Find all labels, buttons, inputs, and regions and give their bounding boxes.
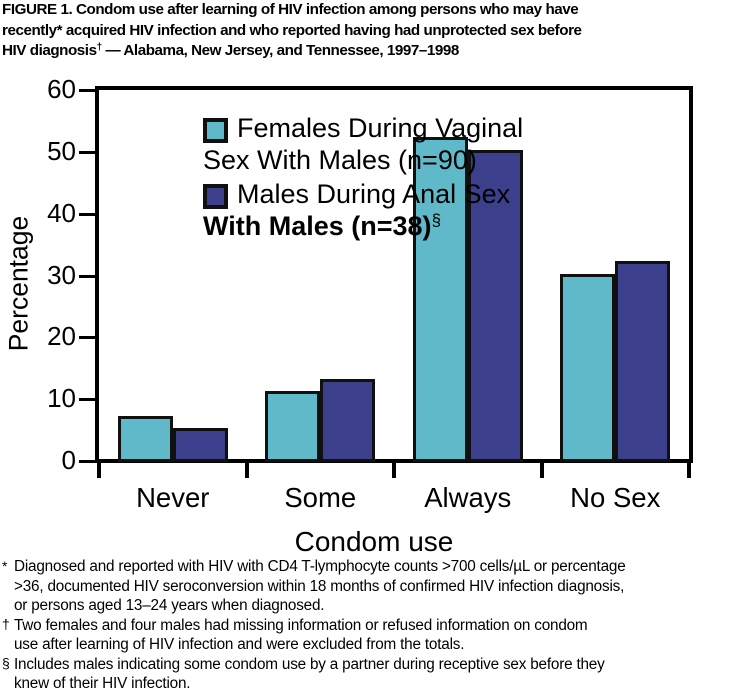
bar-no-sex-series-0 xyxy=(560,274,615,463)
x-axis-tick xyxy=(540,463,544,478)
bar-never-series-0 xyxy=(118,416,173,462)
bar-some-series-0 xyxy=(265,391,320,462)
y-axis-tick xyxy=(79,151,95,154)
legend-label-1: Males During Anal SexWith Males (n=38)§ xyxy=(203,179,510,241)
figure-title: FIGURE 1. Condom use after learning of H… xyxy=(2,0,748,62)
y-axis-tick-label: 10 xyxy=(18,385,76,411)
footnotes: *Diagnosed and reported with HIV with CD… xyxy=(2,557,748,694)
figure-title-line-2: recently* acquired HIV infection and who… xyxy=(2,22,582,39)
chart-legend: Females During VaginalSex With Males (n=… xyxy=(203,112,533,244)
footnote-marker-1: † xyxy=(2,615,10,635)
y-axis-tick xyxy=(79,336,95,339)
legend-swatch-1 xyxy=(203,184,228,209)
x-axis-tick xyxy=(392,463,396,478)
y-axis-tick xyxy=(79,460,95,463)
legend-item-0: Females During VaginalSex With Males (n=… xyxy=(203,112,533,176)
y-axis-tick xyxy=(79,213,95,216)
y-axis-tick-label: 20 xyxy=(18,323,76,349)
y-axis-tick xyxy=(79,398,95,401)
footnote-text-1: Two females and four males had missing i… xyxy=(14,617,587,654)
figure-title-line-1: FIGURE 1. Condom use after learning of H… xyxy=(2,1,578,18)
x-axis-tick xyxy=(245,463,249,478)
figure-title-line-3-tail: — Alabama, New Jersey, and Tennessee, 19… xyxy=(102,42,459,59)
bar-no-sex-series-1 xyxy=(615,261,670,462)
bar-never-series-1 xyxy=(173,428,228,462)
y-axis-tick-label: 0 xyxy=(18,447,76,473)
footnote-0: *Diagnosed and reported with HIV with CD… xyxy=(2,557,748,616)
footnote-marker-2: § xyxy=(2,654,10,674)
legend-swatch-0 xyxy=(203,118,228,143)
footnote-text-0: Diagnosed and reported with HIV with CD4… xyxy=(14,558,626,614)
plot-frame: Females During VaginalSex With Males (n=… xyxy=(95,86,693,463)
x-axis-tick xyxy=(687,463,691,478)
x-axis-tick xyxy=(97,463,101,478)
bar-some-series-1 xyxy=(320,379,375,462)
y-axis-tick-label: 40 xyxy=(18,200,76,226)
legend-item-1: Males During Anal SexWith Males (n=38)§ xyxy=(203,178,533,242)
y-axis-tick xyxy=(79,89,95,92)
legend-label-0: Females During VaginalSex With Males (n=… xyxy=(203,113,523,175)
x-axis-title: Condom use xyxy=(0,526,748,558)
y-axis-tick-label: 30 xyxy=(18,262,76,288)
y-axis-tick xyxy=(79,275,95,278)
figure-title-line-3: HIV diagnosis xyxy=(2,42,97,59)
x-axis-label-no-sex: No Sex xyxy=(520,482,710,514)
footnote-marker-section: § xyxy=(432,211,441,230)
footnote-text-2: Includes males indicating some condom us… xyxy=(14,656,605,693)
chart-area: Percentage 0102030405060 Females During … xyxy=(0,78,748,558)
footnote-marker-0: * xyxy=(2,557,7,577)
footnote-1: †Two females and four males had missing … xyxy=(2,616,748,655)
y-axis-tick-label: 60 xyxy=(18,76,76,102)
y-axis-tick-label: 50 xyxy=(18,138,76,164)
